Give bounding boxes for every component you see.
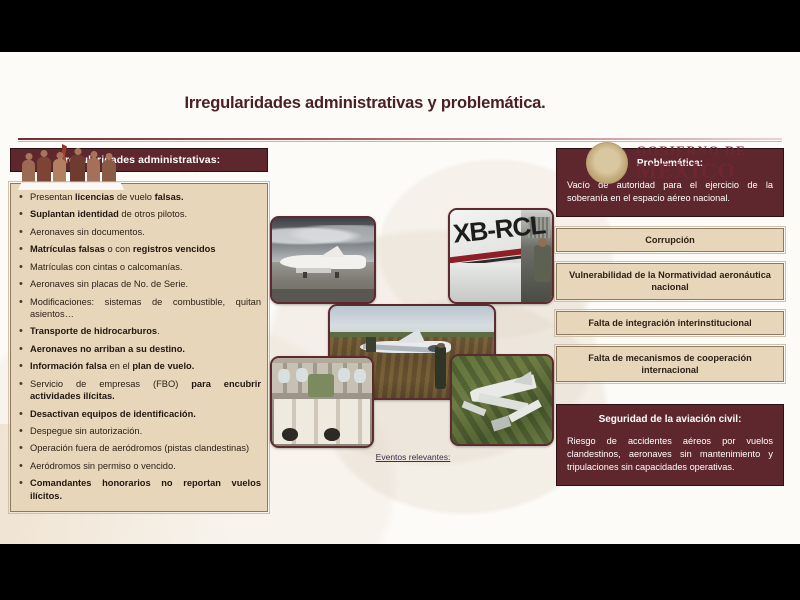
logo-text: GOBIERNO DE MÉXICO <box>636 143 746 182</box>
photo-tail-registration-xb-rcl: XB-RCL <box>448 208 554 304</box>
list-item: Aeronaves sin placas de No. de Serie. <box>15 278 261 290</box>
photo-cabin-fuel-drums <box>270 356 374 448</box>
emblem-figure <box>87 158 100 182</box>
emblem-figure <box>102 160 116 182</box>
seguridad-title: Seguridad de la aviación civil: <box>567 414 773 425</box>
emblem-figure <box>53 159 66 182</box>
factor-box: Falta de integración interinstitucional <box>556 311 784 335</box>
emblem-base <box>18 181 124 189</box>
screenshot-viewport: Irregularidades administrativas y proble… <box>0 0 800 600</box>
factores-list: CorrupciónVulnerabilidad de la Normativi… <box>556 228 784 382</box>
irregularidades-panel: Presentan licencias de vuelo falsas.Supl… <box>10 183 268 512</box>
emblem-figure <box>22 160 35 182</box>
list-item: Modificaciones: sistemas de combustible,… <box>15 296 261 321</box>
list-item: Suplantan identidad de otros pilotos. <box>15 208 261 220</box>
factor-box: Vulnerabilidad de la Normatividad aeroná… <box>556 263 784 299</box>
gobierno-de-mexico-logo: GOBIERNO DE MÉXICO <box>582 140 782 188</box>
presentation-slide: Irregularidades administrativas y proble… <box>0 52 800 544</box>
list-item: Despegue sin autorización. <box>15 425 261 437</box>
list-item: Matrículas falsas o con registros vencid… <box>15 243 261 255</box>
logo-line-2: MÉXICO <box>636 159 746 182</box>
photo-crashed-aircraft <box>450 354 554 446</box>
right-column: Problemática: Vacío de autoridad para el… <box>556 148 784 486</box>
emblem-figure <box>70 155 85 182</box>
seguridad-aviacion-box: Seguridad de la aviación civil: Riesgo d… <box>556 404 784 486</box>
left-column: Irregularidades administrativas: Present… <box>10 148 268 512</box>
photo-business-jet-runway <box>270 216 376 304</box>
list-item: Información falsa en el plan de vuelo. <box>15 360 261 372</box>
factor-box: Corrupción <box>556 228 784 252</box>
seguridad-body: Riesgo de accidentes aéreos por vuelos c… <box>567 435 773 474</box>
eventos-relevantes-caption: Eventos relevantes: <box>328 452 498 462</box>
header-divider-thin <box>18 141 782 142</box>
slide-header: Irregularidades administrativas y proble… <box>0 52 800 142</box>
list-item: Transporte de hidrocarburos. <box>15 325 261 337</box>
emblem-figure <box>37 157 51 182</box>
page-title: Irregularidades administrativas y proble… <box>150 94 580 113</box>
logo-line-1: GOBIERNO DE <box>636 143 746 159</box>
list-item: Comandantes honorarios no reportan vuelo… <box>15 477 261 502</box>
list-item: Aeronaves sin documentos. <box>15 226 261 238</box>
list-item: Desactivan equipos de identificación. <box>15 408 261 420</box>
eagle-seal-icon <box>586 142 628 184</box>
list-item: Operación fuera de aeródromos (pistas cl… <box>15 442 261 454</box>
mexican-heroes-emblem-icon <box>18 144 124 190</box>
list-item: Aeródromos sin permiso o vencido. <box>15 460 261 472</box>
list-item: Presentan licencias de vuelo falsas. <box>15 191 261 203</box>
list-item: Servicio de empresas (FBO) para encubrir… <box>15 378 261 403</box>
list-item: Matrículas con cintas o calcomanías. <box>15 261 261 273</box>
list-item: Aeronaves no arriban a su destino. <box>15 343 261 355</box>
photo-collage: XB-RCL <box>268 204 558 494</box>
header-divider <box>18 138 782 140</box>
factor-box: Falta de mecanismos de cooperación inter… <box>556 346 784 382</box>
irregularidades-list: Presentan licencias de vuelo falsas.Supl… <box>15 191 261 502</box>
